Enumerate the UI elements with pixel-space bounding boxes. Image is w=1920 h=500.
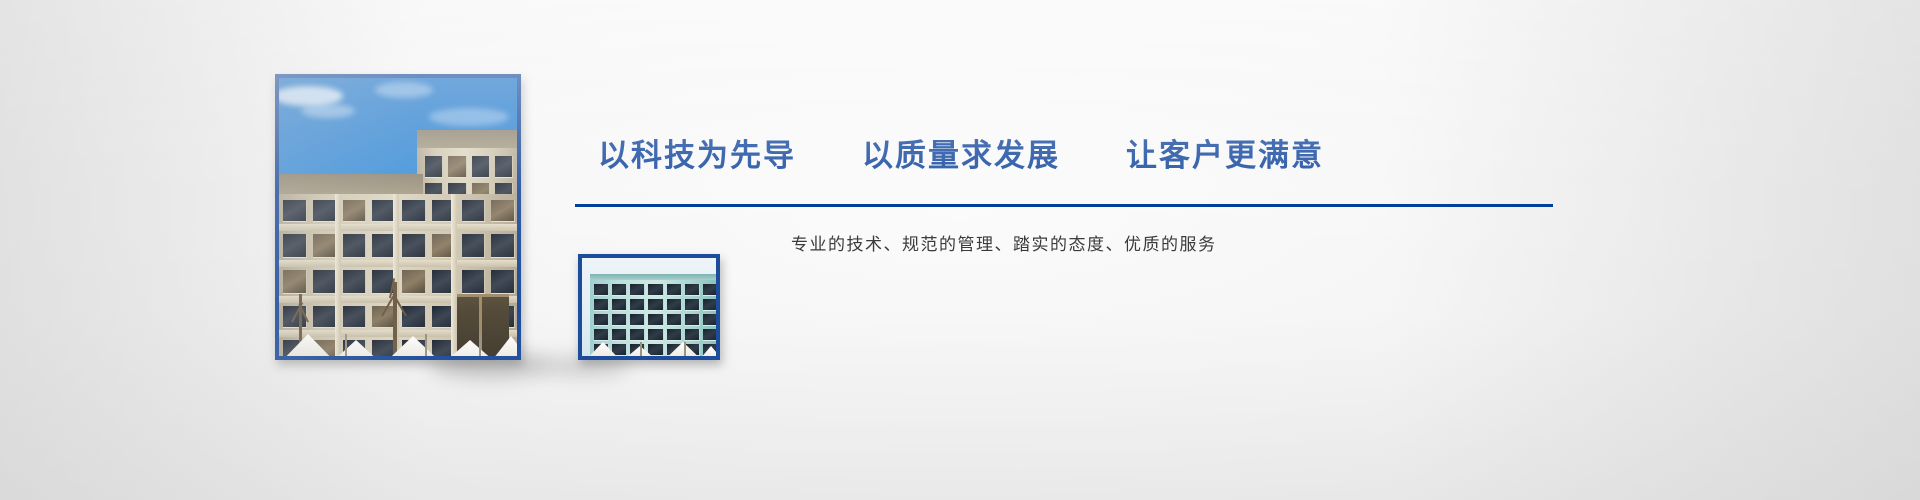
tent-pole [479,334,481,360]
floor-band [277,224,521,231]
cloud [301,104,355,118]
secondary-building-photo [578,254,720,360]
banner-headline: 以科技为先导 以质量求发展 让客户更满意 [598,140,1324,171]
window-grid-row-2 [283,234,515,258]
tent-pole [425,334,427,360]
tent-pole [345,334,347,360]
cloud [275,86,343,106]
teal-window-grid [594,284,718,356]
scaffold-bar [457,294,509,297]
hero-banner: 以科技为先导 以质量求发展 让客户更满意 专业的技术、规范的管理、踏实的态度、优… [0,0,1920,500]
tent-pole [640,342,642,360]
tent-pole [684,342,686,360]
floor-band [277,260,521,267]
cloud [429,108,509,126]
window-grid-row-3 [283,270,515,294]
building-cornice [277,174,423,196]
blue-divider-line [575,204,1553,207]
building-roof-block [417,130,521,150]
facade-pillar [335,194,341,360]
primary-building-photo [275,74,521,360]
banner-subtitle: 专业的技术、规范的管理、踏实的态度、优质的服务 [791,236,1217,253]
cloud [375,82,433,98]
teal-building-cornice [590,274,720,280]
window-grid-row-1 [283,200,515,222]
